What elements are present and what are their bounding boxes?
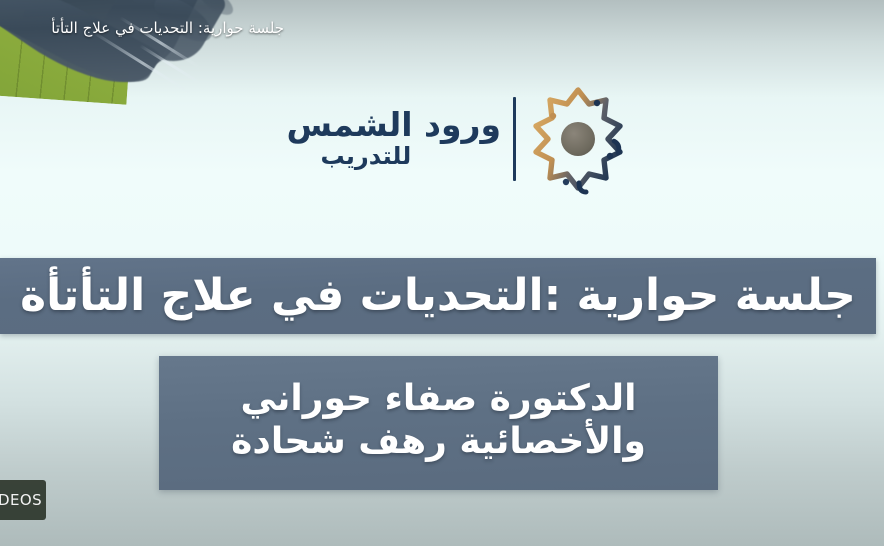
session-headline-banner: جلسة حوارية :التحديات في علاج التأتأة: [0, 258, 876, 334]
overlay-video-title-text: جلسة حوارية: التحديات في علاج التأتأ: [51, 21, 284, 36]
brand-logo-name-primary: ورود الشمس: [287, 108, 502, 143]
brand-logo-divider: [513, 97, 516, 181]
eight-pointed-star-rosette-icon: [526, 83, 630, 195]
speaker-name-primary: الدكتورة صفاء حوراني: [240, 378, 636, 419]
brand-logo: ورود الشمس للتدريب: [270, 74, 630, 204]
overlay-video-title: جلسة حوارية: التحديات في علاج التأتأ: [0, 0, 884, 56]
brand-logo-text: ورود الشمس للتدريب: [287, 108, 502, 169]
brand-logo-name-secondary: للتدريب: [287, 143, 502, 169]
videos-category-tag-label: IDEOS: [0, 491, 42, 509]
speaker-name-secondary: والأخصائية رهف شحادة: [231, 421, 646, 462]
speakers-panel: الدكتورة صفاء حوراني والأخصائية رهف شحاد…: [159, 356, 718, 490]
session-headline-text: جلسة حوارية :التحديات في علاج التأتأة: [20, 274, 856, 318]
videos-category-tag[interactable]: IDEOS: [0, 480, 46, 520]
video-thumbnail-frame: جلسة حوارية: التحديات في علاج التأتأ ورو…: [0, 0, 884, 546]
